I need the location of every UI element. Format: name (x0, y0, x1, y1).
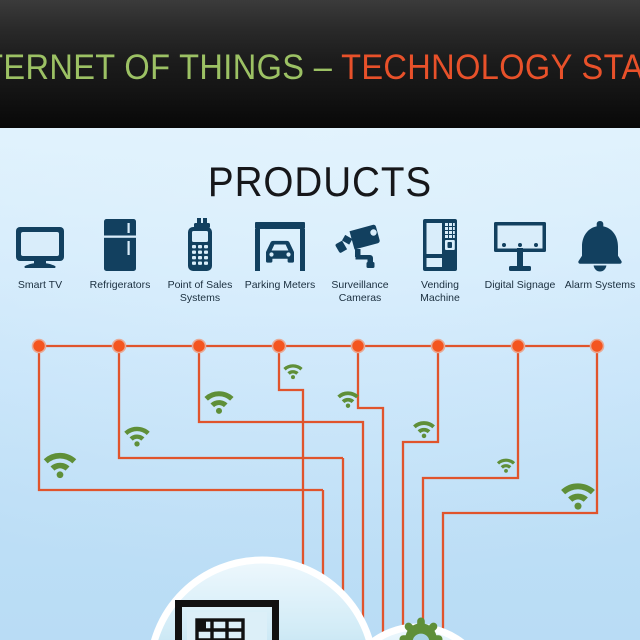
product-item-point-of-sales-systems[interactable]: Point of Sales Systems (160, 214, 240, 314)
gear-icon (393, 614, 449, 640)
refrigerator-icon (103, 214, 137, 272)
pos-terminal-icon (184, 214, 216, 272)
product-label: Refrigerators (90, 279, 151, 292)
product-item-smart-tv[interactable]: Smart TV (0, 214, 80, 314)
product-label: Smart TV (18, 279, 62, 292)
product-item-digital-signage[interactable]: Digital Signage (480, 214, 560, 314)
product-icon-row: Smart TV Refrigerators (0, 214, 640, 314)
bell-icon (575, 214, 625, 272)
product-item-surveillance-cameras[interactable]: Surveillance Cameras (320, 214, 400, 314)
tv-icon (15, 214, 65, 272)
product-label: Point of Sales Systems (161, 279, 239, 305)
building-monitor-icon (175, 600, 279, 640)
product-item-refrigerators[interactable]: Refrigerators (80, 214, 160, 314)
vending-machine-icon (422, 214, 458, 272)
parking-meter-icon (252, 214, 308, 272)
product-label: Digital Signage (485, 279, 556, 292)
product-item-alarm-systems[interactable]: Alarm Systems (560, 214, 640, 314)
product-label: Surveillance Cameras (321, 279, 399, 305)
security-camera-icon (332, 214, 388, 272)
infographic-canvas: INTERNET OF THINGS – TECHNOLOGY STACK PR… (0, 0, 640, 640)
cloud-platform (0, 0, 640, 640)
product-label: Vending Machine (401, 279, 479, 305)
product-item-vending-machine[interactable]: Vending Machine (400, 214, 480, 314)
section-title-products: PRODUCTS (26, 158, 615, 206)
product-label: Parking Meters (245, 279, 316, 292)
billboard-icon (492, 214, 548, 272)
product-label: Alarm Systems (565, 279, 636, 292)
product-item-parking-meters[interactable]: Parking Meters (240, 214, 320, 314)
